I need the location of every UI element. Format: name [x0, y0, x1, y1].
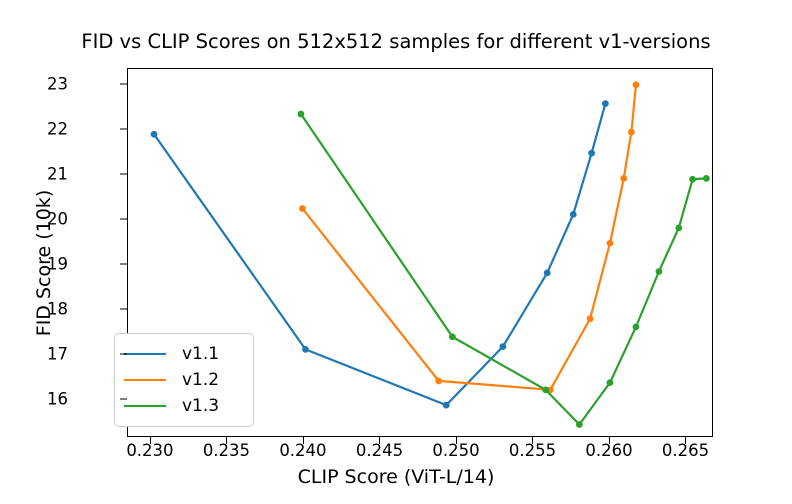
- y-tick-mark: [120, 128, 127, 129]
- x-tick-mark: [609, 437, 610, 444]
- data-point: [620, 175, 627, 182]
- legend-swatch-v1-3: [124, 405, 166, 407]
- data-point: [443, 402, 450, 409]
- data-point: [633, 323, 640, 330]
- x-tick-mark: [532, 437, 533, 444]
- data-point: [656, 268, 663, 275]
- data-point: [703, 175, 710, 182]
- x-tick-mark: [226, 437, 227, 444]
- x-tick-mark: [379, 437, 380, 444]
- data-point: [151, 131, 158, 138]
- data-point: [297, 111, 304, 118]
- y-tick-mark: [120, 173, 127, 174]
- data-point: [570, 211, 577, 218]
- y-tick-label: 16: [47, 389, 68, 408]
- data-point: [544, 269, 551, 276]
- data-point: [675, 224, 682, 231]
- chart-title: FID vs CLIP Scores on 512x512 samples fo…: [0, 30, 792, 53]
- y-tick-label: 22: [47, 119, 68, 138]
- y-tick-mark: [120, 263, 127, 264]
- data-point: [542, 386, 549, 393]
- x-axis-label: CLIP Score (ViT-L/14): [0, 466, 792, 488]
- data-point: [435, 377, 442, 384]
- legend-item[interactable]: v1.2: [124, 367, 244, 393]
- data-point: [689, 176, 696, 183]
- legend-label: v1.2: [182, 372, 219, 389]
- y-tick-mark: [120, 83, 127, 84]
- y-tick-label: 19: [47, 254, 68, 273]
- data-point: [628, 129, 635, 136]
- y-tick-label: 18: [47, 299, 68, 318]
- data-point: [602, 100, 609, 107]
- legend-swatch-v1-2: [124, 379, 166, 381]
- legend-swatch-v1-1: [124, 353, 166, 355]
- x-tick-mark: [303, 437, 304, 444]
- legend: v1.1 v1.2 v1.3: [114, 333, 254, 427]
- figure: FID vs CLIP Scores on 512x512 samples fo…: [0, 0, 792, 504]
- legend-item[interactable]: v1.3: [124, 393, 244, 419]
- legend-label: v1.3: [182, 398, 219, 415]
- data-point: [302, 346, 309, 353]
- series-line-v1-3: [301, 114, 706, 425]
- legend-item[interactable]: v1.1: [124, 341, 244, 367]
- data-point: [633, 81, 640, 88]
- x-tick-mark: [456, 437, 457, 444]
- y-tick-mark: [120, 398, 127, 399]
- y-tick-mark: [120, 353, 127, 354]
- x-tick-mark: [150, 437, 151, 444]
- data-point: [607, 240, 614, 247]
- y-tick-label: 17: [47, 344, 68, 363]
- y-tick-mark: [120, 308, 127, 309]
- legend-label: v1.1: [182, 346, 219, 363]
- data-point: [449, 333, 456, 340]
- x-tick-mark: [685, 437, 686, 444]
- series-line-v1-2: [302, 85, 636, 390]
- data-point: [299, 205, 306, 212]
- y-tick-label: 21: [47, 164, 68, 183]
- data-point: [588, 150, 595, 157]
- data-point: [607, 379, 614, 386]
- data-point: [576, 421, 583, 428]
- data-point: [587, 315, 594, 322]
- y-tick-mark: [120, 218, 127, 219]
- data-point: [499, 343, 506, 350]
- y-tick-label: 23: [47, 74, 68, 93]
- y-tick-label: 20: [47, 209, 68, 228]
